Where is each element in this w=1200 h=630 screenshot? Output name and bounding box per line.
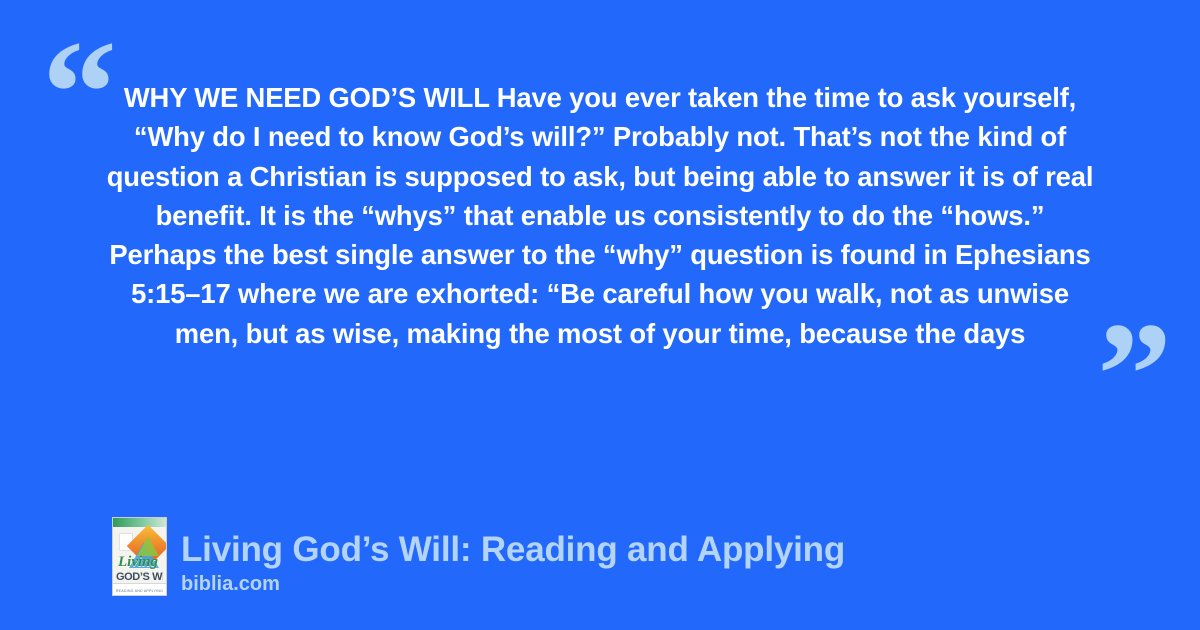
footer-text-block: Living God’s Will: Reading and Applying … <box>181 529 845 596</box>
book-cover-thumbnail: Living GOD’S WILL READING AND APPLYING <box>112 517 167 596</box>
book-title: Living God’s Will: Reading and Applying <box>181 529 845 571</box>
cover-triangle-shape-2 <box>137 536 159 556</box>
close-quote-icon: ” <box>1097 300 1172 450</box>
cover-top-band <box>113 518 166 527</box>
cover-script-word: Living <box>118 554 158 571</box>
quote-text: WHY WE NEED GOD’S WILL Have you ever tak… <box>104 78 1096 353</box>
quote-card: “ ” WHY WE NEED GOD’S WILL Have you ever… <box>0 0 1200 630</box>
footer-attribution: Living GOD’S WILL READING AND APPLYING L… <box>112 517 845 596</box>
cover-main-words: GOD’S WILL <box>116 571 163 583</box>
cover-subtitle: READING AND APPLYING <box>113 589 166 593</box>
site-name: biblia.com <box>181 572 845 596</box>
